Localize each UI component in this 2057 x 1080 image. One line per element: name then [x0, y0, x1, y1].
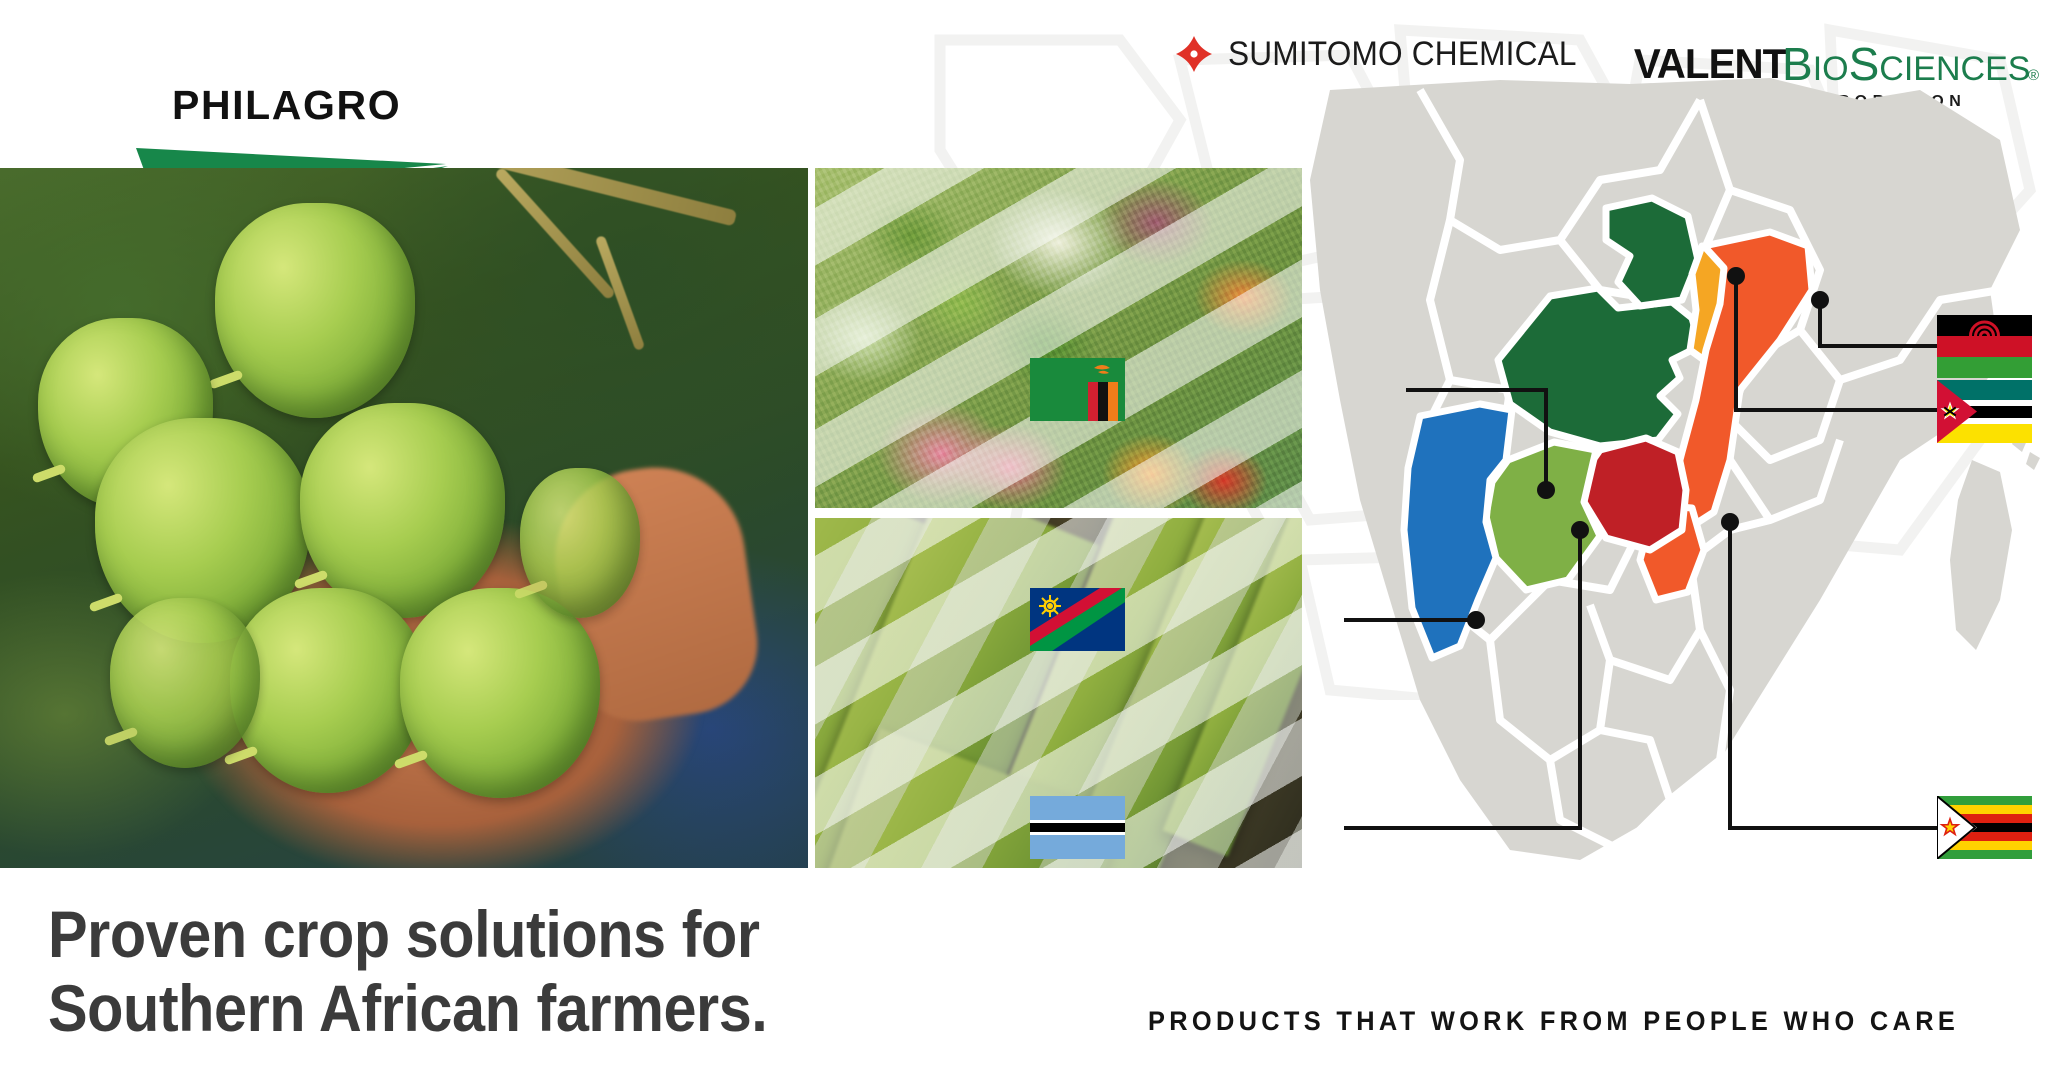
poster-canvas: PHILAGRO SUMITOMO CHEMICAL VALENT BIOSCI…: [0, 0, 2057, 1080]
philagro-wordmark: PHILAGRO: [172, 82, 401, 129]
dot-botswana: [1571, 521, 1589, 539]
sumitomo-diamond-mark-icon: [1172, 32, 1216, 76]
map-graphic: [1300, 60, 2057, 920]
flag-botswana: [1030, 796, 1125, 859]
flag-zimbabwe: [1937, 796, 2032, 859]
brand-tagline: PRODUCTS THAT WORK FROM PEOPLE WHO CARE: [1148, 1006, 1959, 1037]
dot-malawi: [1727, 267, 1745, 285]
southern-africa-map: [1300, 60, 2057, 920]
dot-mozambique: [1811, 291, 1829, 309]
dot-zimbabwe: [1721, 513, 1739, 531]
dot-zambia: [1537, 481, 1555, 499]
photo-mixed-vegetables: [815, 168, 1302, 508]
flag-mozambique: [1937, 380, 2032, 443]
photo-macadamia-nuts-in-hand: [0, 168, 808, 868]
dot-namibia: [1467, 611, 1485, 629]
page-headline: Proven crop solutions for Southern Afric…: [48, 898, 957, 1046]
flag-namibia: [1030, 588, 1125, 651]
flag-malawi: [1937, 315, 2032, 378]
flag-zambia: [1030, 358, 1125, 421]
madagascar-shape: [1950, 460, 2012, 650]
